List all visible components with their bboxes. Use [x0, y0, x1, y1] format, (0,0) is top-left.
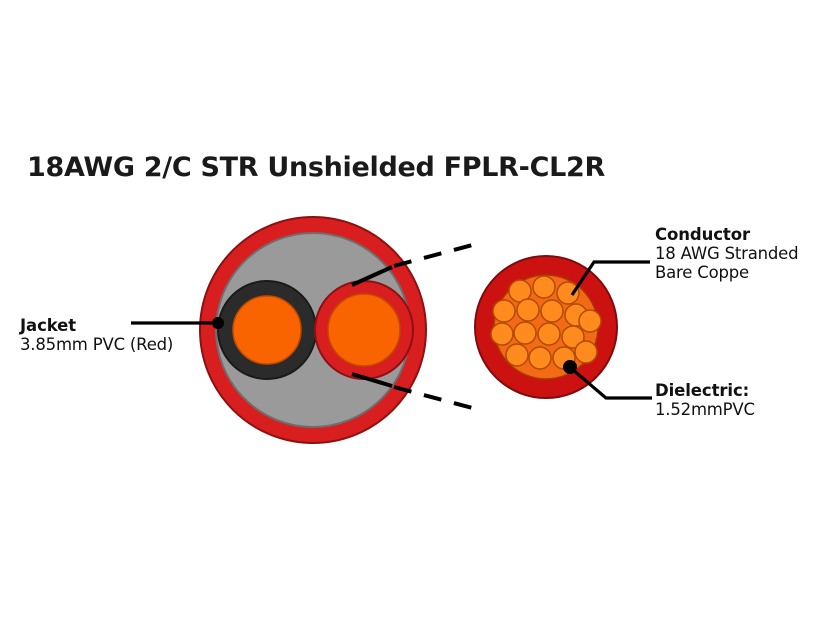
copper-strand [579, 310, 601, 332]
copper-strand [514, 322, 536, 344]
callout-jacket-detail: 3.85mm PVC (Red) [20, 335, 173, 354]
callout-dielectric-detail: 1.52mmPVC [655, 400, 755, 419]
diagram-canvas [0, 0, 840, 630]
magnify-upper-dashed-line [394, 243, 480, 266]
callout-dielectric-title: Dielectric: [655, 381, 755, 400]
magnify-lower-dashed-line [394, 387, 480, 410]
copper-strand [533, 276, 555, 298]
callout-jacket-title: Jacket [20, 316, 173, 335]
copper-strand [541, 300, 563, 322]
callout-conductor-detail-line1: 18 AWG Stranded [655, 244, 798, 263]
jacket-leader-dot [212, 317, 224, 329]
copper-strand [538, 323, 560, 345]
callout-conductor-detail-line2: Bare Coppe [655, 263, 798, 282]
conductor-black-copper-core [233, 296, 301, 364]
callout-dielectric: Dielectric: 1.52mmPVC [655, 381, 755, 419]
copper-strand [517, 299, 539, 321]
callout-jacket: Jacket 3.85mm PVC (Red) [20, 316, 173, 354]
cable-cross-section-diagram: 18AWG 2/C STR Unshielded FPLR-CL2R [0, 0, 840, 630]
copper-strand [557, 282, 579, 304]
copper-strand [575, 341, 597, 363]
callout-conductor: Conductor 18 AWG Stranded Bare Coppe [655, 225, 798, 282]
copper-strand [493, 300, 515, 322]
main-cable-cross-section [200, 217, 426, 443]
conductor-black [218, 281, 316, 379]
conductor-detail-view [475, 256, 617, 398]
copper-strand [491, 323, 513, 345]
copper-strand [506, 344, 528, 366]
conductor-red [315, 281, 413, 379]
conductor-red-copper-core [328, 294, 400, 366]
copper-strand [529, 347, 551, 369]
callout-conductor-title: Conductor [655, 225, 798, 244]
